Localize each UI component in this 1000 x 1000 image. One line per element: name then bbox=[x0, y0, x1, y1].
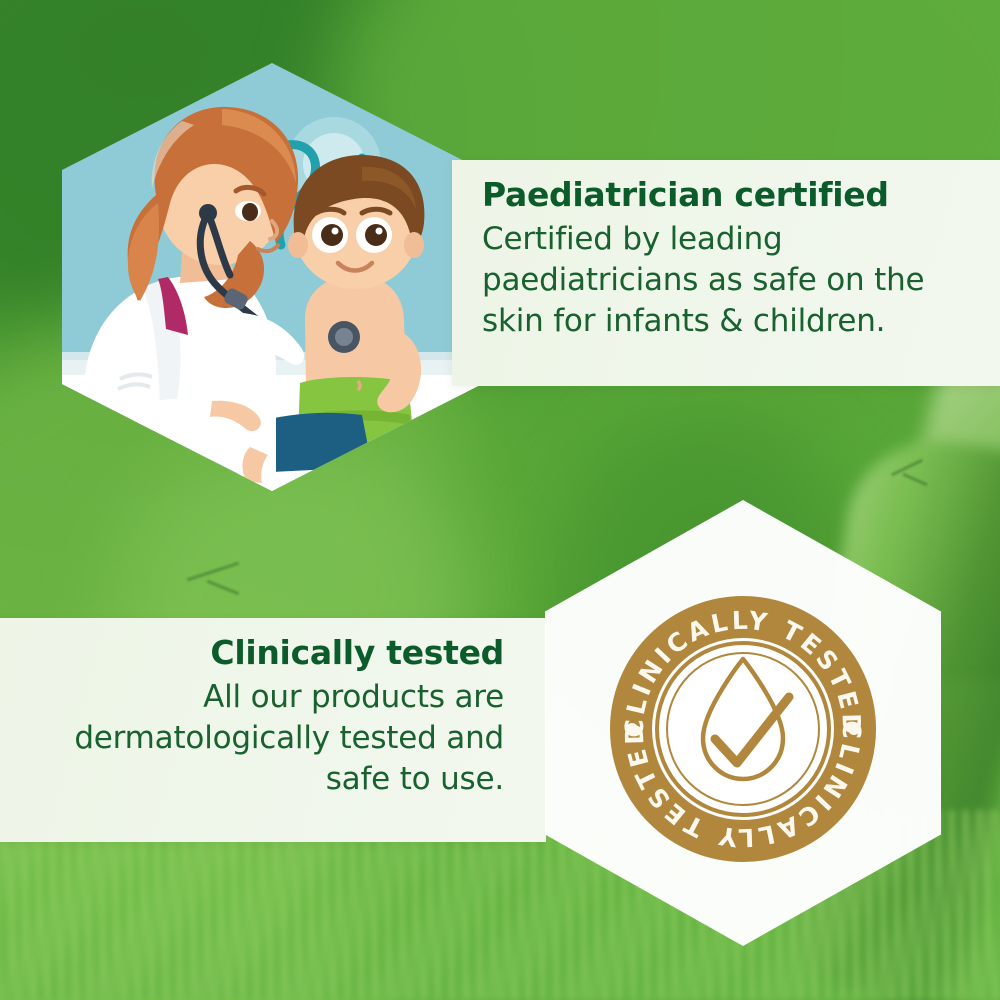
paediatrician-certified-panel: Paediatrician certified Certified by lea… bbox=[452, 160, 1000, 386]
doctor-eye bbox=[242, 203, 258, 221]
feature-title: Clinically tested bbox=[24, 632, 504, 675]
seal-separator-dot-right bbox=[848, 723, 860, 735]
clinically-tested-seal: CLINICALLY TESTED CLINICALLY TESTED bbox=[607, 593, 879, 865]
feature-graphic: Paediatrician certified Certified by lea… bbox=[0, 0, 1000, 1000]
seal-artwork: CLINICALLY TESTED CLINICALLY TESTED bbox=[607, 593, 879, 865]
stethoscope-earpiece-icon bbox=[199, 204, 217, 222]
seal-separator-dot-left bbox=[626, 723, 638, 735]
feature-body: Certified by leading paediatricians as s… bbox=[482, 219, 976, 342]
feature-body: All our products are dermatologically te… bbox=[24, 677, 504, 800]
clinically-tested-panel: Clinically tested All our products are d… bbox=[0, 618, 546, 842]
feature-title: Paediatrician certified bbox=[482, 174, 976, 217]
